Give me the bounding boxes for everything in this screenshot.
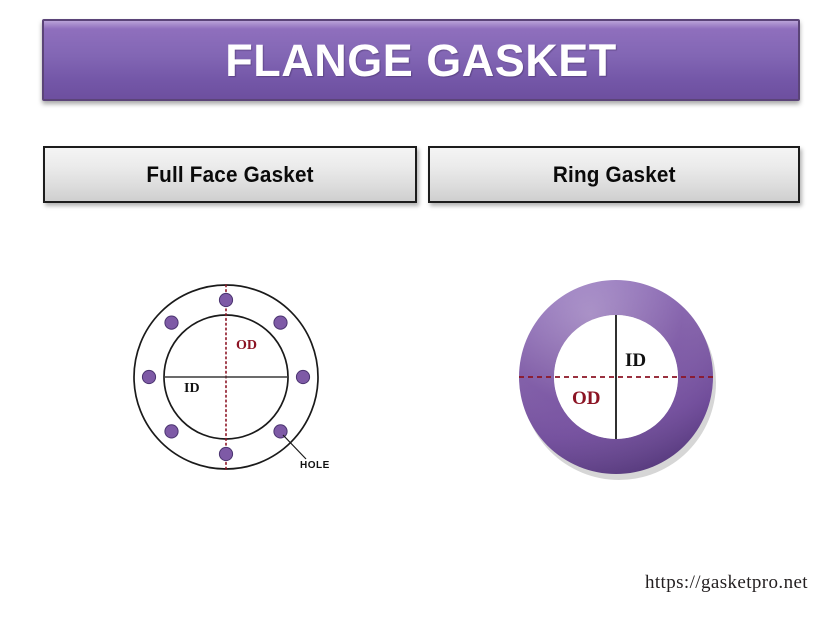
footer-url[interactable]: https://gasketpro.net xyxy=(645,572,808,594)
section-header-full-face-gasket: Full Face Gasket xyxy=(43,146,417,203)
bolt-hole xyxy=(274,316,287,329)
id-label: ID xyxy=(184,381,200,396)
od-label: OD xyxy=(572,388,601,409)
section-header-ring-gasket-label: Ring Gasket xyxy=(553,162,676,188)
full-face-gasket-diagram: OD ID HOLE xyxy=(120,272,335,487)
bolt-hole xyxy=(219,293,232,306)
bolt-hole xyxy=(165,425,178,438)
bolt-hole xyxy=(142,370,155,383)
od-label: OD xyxy=(236,338,257,353)
section-header-full-face-gasket-label: Full Face Gasket xyxy=(146,162,313,188)
bolt-hole xyxy=(274,425,287,438)
hole-label: HOLE xyxy=(300,460,330,471)
ring-gasket-diagram: ID OD xyxy=(506,265,728,490)
bolt-hole xyxy=(165,316,178,329)
section-header-ring-gasket: Ring Gasket xyxy=(428,146,800,203)
page-title: FLANGE GASKET xyxy=(225,38,617,83)
id-label: ID xyxy=(625,350,646,371)
bolt-hole xyxy=(296,370,309,383)
bolt-hole xyxy=(219,447,232,460)
page-title-banner: FLANGE GASKET xyxy=(42,19,800,101)
